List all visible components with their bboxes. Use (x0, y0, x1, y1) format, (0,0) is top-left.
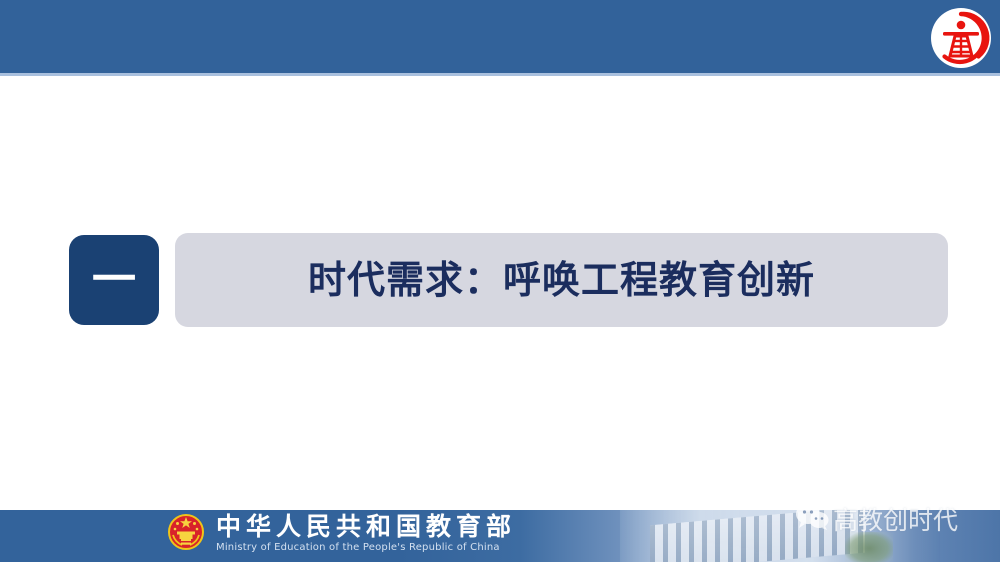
header-bar (0, 0, 1000, 73)
header-underline (0, 73, 1000, 76)
page-title: 时代需求：呼唤工程教育创新 (175, 233, 948, 327)
wechat-watermark: 高教创时代 (795, 502, 958, 536)
university-emblem-icon (930, 8, 992, 69)
ministry-name-cn: 中华人民共和国教育部 (216, 513, 516, 541)
watermark-text: 高教创时代 (833, 501, 958, 537)
section-number-label: 一 (69, 235, 159, 325)
wechat-icon (795, 503, 829, 535)
ministry-of-education-block: 中华人民共和国教育部 Ministry of Education of the … (168, 513, 516, 554)
section-number-badge: 一 (69, 235, 159, 325)
ministry-name-en: Ministry of Education of the People's Re… (216, 541, 516, 554)
presentation-slide: 一 时代需求：呼唤工程教育创新 (0, 0, 1000, 562)
national-emblem-icon (168, 514, 204, 554)
section-title-bar: 时代需求：呼唤工程教育创新 (175, 233, 948, 327)
